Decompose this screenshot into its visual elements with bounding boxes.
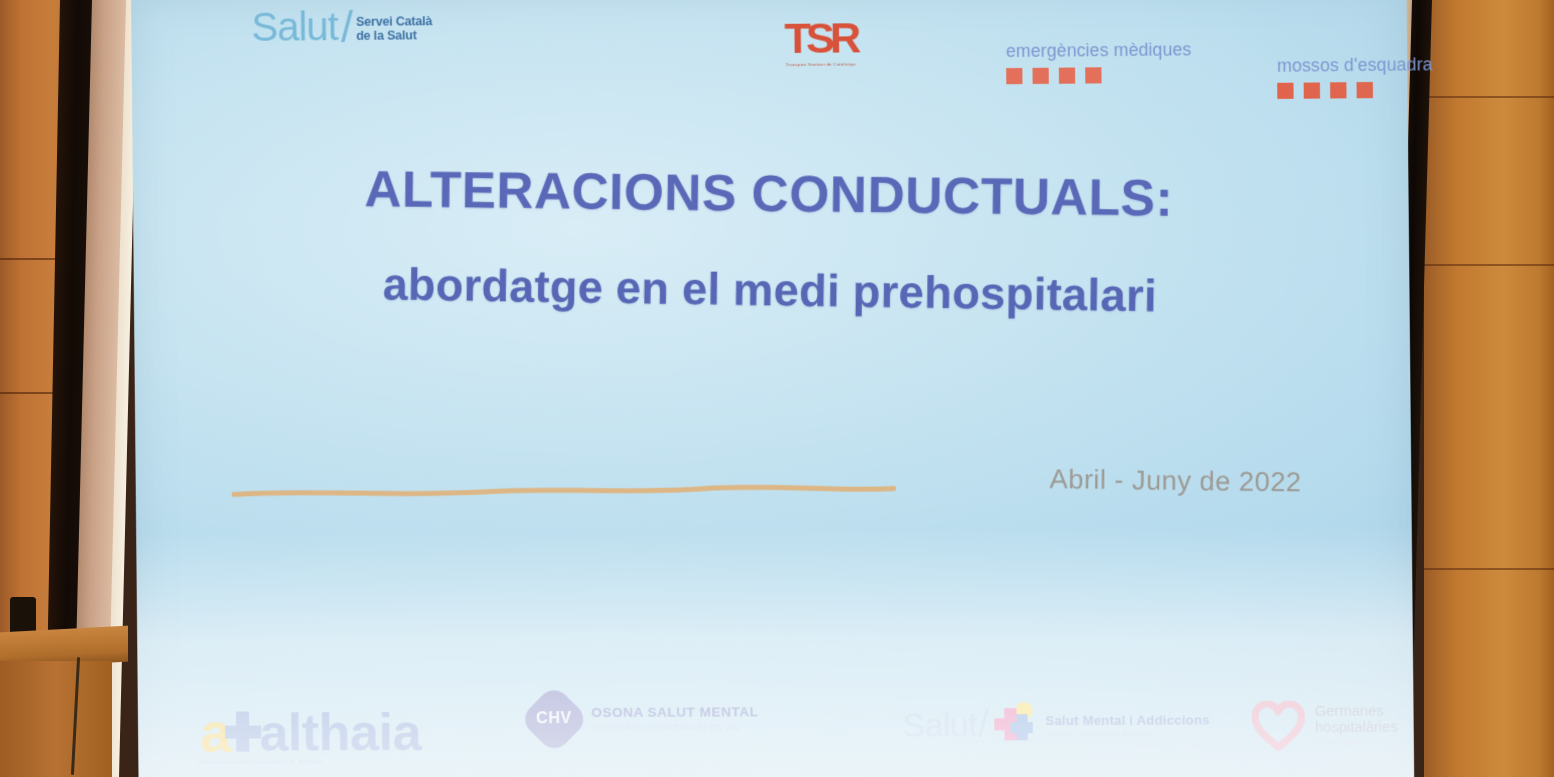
slide-footer-logos: a althaia Xarxa Assistencial Universitàr… (137, 652, 1414, 777)
logo-germanes-hospitalaries: Germanes hospitalàries cuidem, acollim (1252, 700, 1398, 751)
slide-date: Abril - Juny de 2022 (1049, 464, 1301, 499)
logo-osona-salut-mental: CHV OSONA SALUT MENTAL CONSORCI HOSPITAL… (529, 693, 759, 744)
wood-panel-right (1424, 0, 1554, 777)
presentation-slide: Salut / Servei Català de la Salut TSR Tr… (131, 0, 1414, 777)
scs-line-1: Servei Català (356, 14, 432, 29)
lectern-body (0, 661, 112, 777)
scs-subtitle: Servei Català de la Salut (356, 14, 432, 43)
gencat-square (1032, 68, 1048, 84)
logo-emergencies-mediques: emergències mèdiques (1006, 39, 1192, 84)
logo-tsr: TSR Transport Sanitari de Catalunya (784, 19, 856, 66)
salut-wordmark: Salut (251, 8, 338, 47)
gencat-square (1085, 67, 1101, 83)
slide-subtitle: abordatge en el medi prehospitalari (134, 255, 1410, 327)
wood-seam (1424, 264, 1554, 266)
chv-mark-label: CHV (536, 710, 572, 728)
tsr-wordmark: TSR (784, 19, 856, 59)
plus-icon (225, 711, 261, 751)
salut-slash: / (341, 8, 354, 48)
slide-title-block: ALTERACIONS CONDUCTUALS: abordatge en el… (133, 158, 1410, 321)
germanes-line-3: cuidem, acollim (1315, 740, 1398, 747)
smia-line-2: Consorci Sanitari del Maresme (1046, 730, 1210, 738)
logo-salut-mental-addiccions: Salut / Salut Mental i Addiccions Consor… (902, 701, 1210, 749)
gencat-squares-icon (1277, 81, 1433, 99)
salut-slash-footer: / (978, 704, 989, 747)
smia-line-1: Salut Mental i Addiccions (1045, 712, 1209, 728)
logo-althaia: a althaia (200, 710, 421, 756)
gencat-squares-icon (1006, 66, 1192, 84)
smia-text-block: Salut Mental i Addiccions Consorci Sanit… (1045, 712, 1210, 738)
conference-room-scene: Salut / Servei Català de la Salut TSR Tr… (0, 0, 1554, 777)
osona-text-block: OSONA SALUT MENTAL CONSORCI HOSPITALARI … (591, 704, 758, 733)
salut-wordmark-footer: Salut (902, 706, 977, 746)
decorative-divider (232, 477, 896, 507)
logo-mossos-esquadra: mossos d'esquadra (1277, 54, 1433, 99)
germanes-line-1: Germanes (1315, 704, 1398, 720)
mossos-esquadra-label: mossos d'esquadra (1277, 54, 1433, 77)
gencat-square (1277, 83, 1293, 99)
althaia-wordmark: althaia (259, 711, 421, 756)
osona-line-2: CONSORCI HOSPITALARI DE VIC (591, 722, 758, 733)
cross-blue-v (1016, 714, 1027, 740)
althaia-tagline: Xarxa Assistencial Universitària de Manr… (198, 759, 322, 766)
tsr-subtitle: Transport Sanitari de Catalunya (785, 61, 857, 66)
gencat-square (1304, 82, 1320, 98)
logo-salut-servei-catala-salut: Salut / Servei Català de la Salut (251, 7, 432, 48)
emergencies-mediques-label: emergències mèdiques (1006, 39, 1192, 62)
gencat-square (1357, 82, 1373, 98)
lectern (0, 597, 128, 777)
osona-line-1: OSONA SALUT MENTAL (591, 704, 758, 720)
germanes-line-2: hospitalàries (1315, 720, 1398, 736)
wood-seam (1424, 568, 1554, 570)
divider-line-icon (232, 477, 896, 507)
germanes-text-block: Germanes hospitalàries cuidem, acollim (1315, 704, 1398, 748)
gencat-square (1006, 68, 1022, 84)
multicolor-cross-icon (991, 702, 1038, 748)
chv-diamond-icon: CHV (519, 684, 590, 755)
projection-screen: Salut / Servei Català de la Salut TSR Tr… (131, 0, 1414, 777)
heart-icon (1252, 701, 1305, 752)
slide-title: ALTERACIONS CONDUCTUALS: (133, 156, 1409, 230)
scs-line-2: de la Salut (356, 28, 432, 43)
gencat-square (1059, 68, 1075, 84)
gencat-square (1330, 82, 1346, 98)
wood-seam (1424, 96, 1554, 98)
